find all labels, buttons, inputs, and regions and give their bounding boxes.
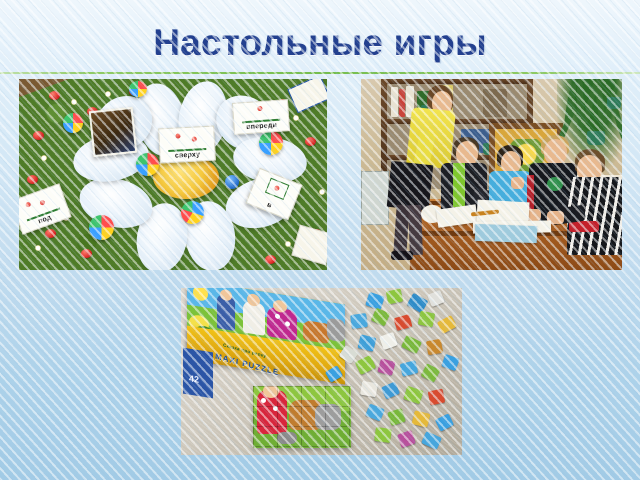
bookshelf-board bbox=[381, 79, 533, 84]
card-dot bbox=[257, 106, 262, 111]
title-divider-rule bbox=[0, 72, 640, 74]
white-flower-decor bbox=[105, 91, 111, 97]
jacket-red-band bbox=[569, 221, 599, 232]
photo1-content: сверху впереди под в bbox=[19, 79, 327, 270]
berry-decor bbox=[27, 175, 38, 184]
card-dot bbox=[274, 185, 281, 192]
plant-pot bbox=[587, 131, 605, 145]
teacher-shoe bbox=[391, 251, 413, 260]
child-hand bbox=[511, 177, 524, 189]
game-ball-piece bbox=[129, 81, 147, 97]
game-ball-piece bbox=[181, 201, 204, 224]
photo-maxi-puzzle[interactable]: 42 Сказка про репку MAXI PUZZLE bbox=[181, 288, 462, 455]
white-flower-decor bbox=[41, 155, 47, 161]
puzzle-piece-count: 42 bbox=[189, 373, 199, 385]
berry-decor bbox=[33, 131, 44, 140]
white-flower-decor bbox=[319, 189, 325, 195]
card-dot bbox=[39, 199, 45, 205]
desk-blue-card bbox=[475, 224, 538, 243]
game-ball-piece bbox=[63, 113, 83, 133]
card-dot bbox=[175, 133, 180, 138]
berry-decor bbox=[265, 255, 276, 264]
word-card-label: в bbox=[265, 201, 273, 211]
photo2-content bbox=[361, 79, 622, 270]
hoodie-logo bbox=[547, 177, 563, 191]
word-card-sverhu: сверху bbox=[158, 126, 216, 164]
game-ball-piece bbox=[259, 131, 283, 155]
white-flower-decor bbox=[35, 245, 41, 251]
puzzle-piece bbox=[426, 339, 443, 355]
photo3-content: 42 Сказка про репку MAXI PUZZLE bbox=[181, 288, 462, 455]
book-decor bbox=[391, 87, 398, 117]
berry-decor bbox=[45, 229, 56, 238]
berry-decor bbox=[305, 137, 316, 146]
card-dot bbox=[25, 201, 31, 207]
photo-classroom-children[interactable] bbox=[361, 79, 622, 270]
puzzle-piece bbox=[350, 313, 368, 329]
book-decor bbox=[399, 89, 405, 117]
game-ball-piece bbox=[89, 215, 114, 240]
card-dot bbox=[192, 136, 197, 141]
white-flower-decor bbox=[285, 241, 291, 247]
slide-canvas: Настольные игры bbox=[0, 0, 640, 480]
puzzle-piece bbox=[360, 381, 378, 398]
game-ball-piece bbox=[225, 175, 239, 189]
child-jacket-stripe bbox=[453, 163, 465, 207]
puzzle-piece bbox=[374, 427, 392, 443]
teacher-skirt bbox=[387, 161, 434, 211]
puzzle-box-left-panel bbox=[183, 348, 213, 399]
page-title: Настольные игры bbox=[0, 22, 640, 64]
picture-tile bbox=[89, 107, 138, 157]
game-ball-piece bbox=[136, 153, 159, 176]
assembled-puzzle bbox=[253, 386, 351, 448]
word-card-label: впереди bbox=[246, 122, 277, 133]
book-decor bbox=[483, 89, 507, 117]
berry-decor bbox=[81, 249, 92, 258]
berry-decor bbox=[49, 91, 60, 100]
white-flower-decor bbox=[71, 99, 77, 105]
puzzle-piece bbox=[418, 311, 436, 328]
plant-pot bbox=[607, 97, 621, 109]
word-card-label: сверху bbox=[175, 151, 201, 161]
word-card-vperedi: впереди bbox=[232, 99, 290, 135]
card-box-symbol bbox=[265, 178, 290, 200]
white-flower-decor bbox=[293, 115, 299, 121]
wall-board bbox=[361, 171, 389, 225]
child-head bbox=[544, 139, 567, 165]
photo-flower-board-game[interactable]: сверху впереди под в bbox=[19, 79, 327, 270]
